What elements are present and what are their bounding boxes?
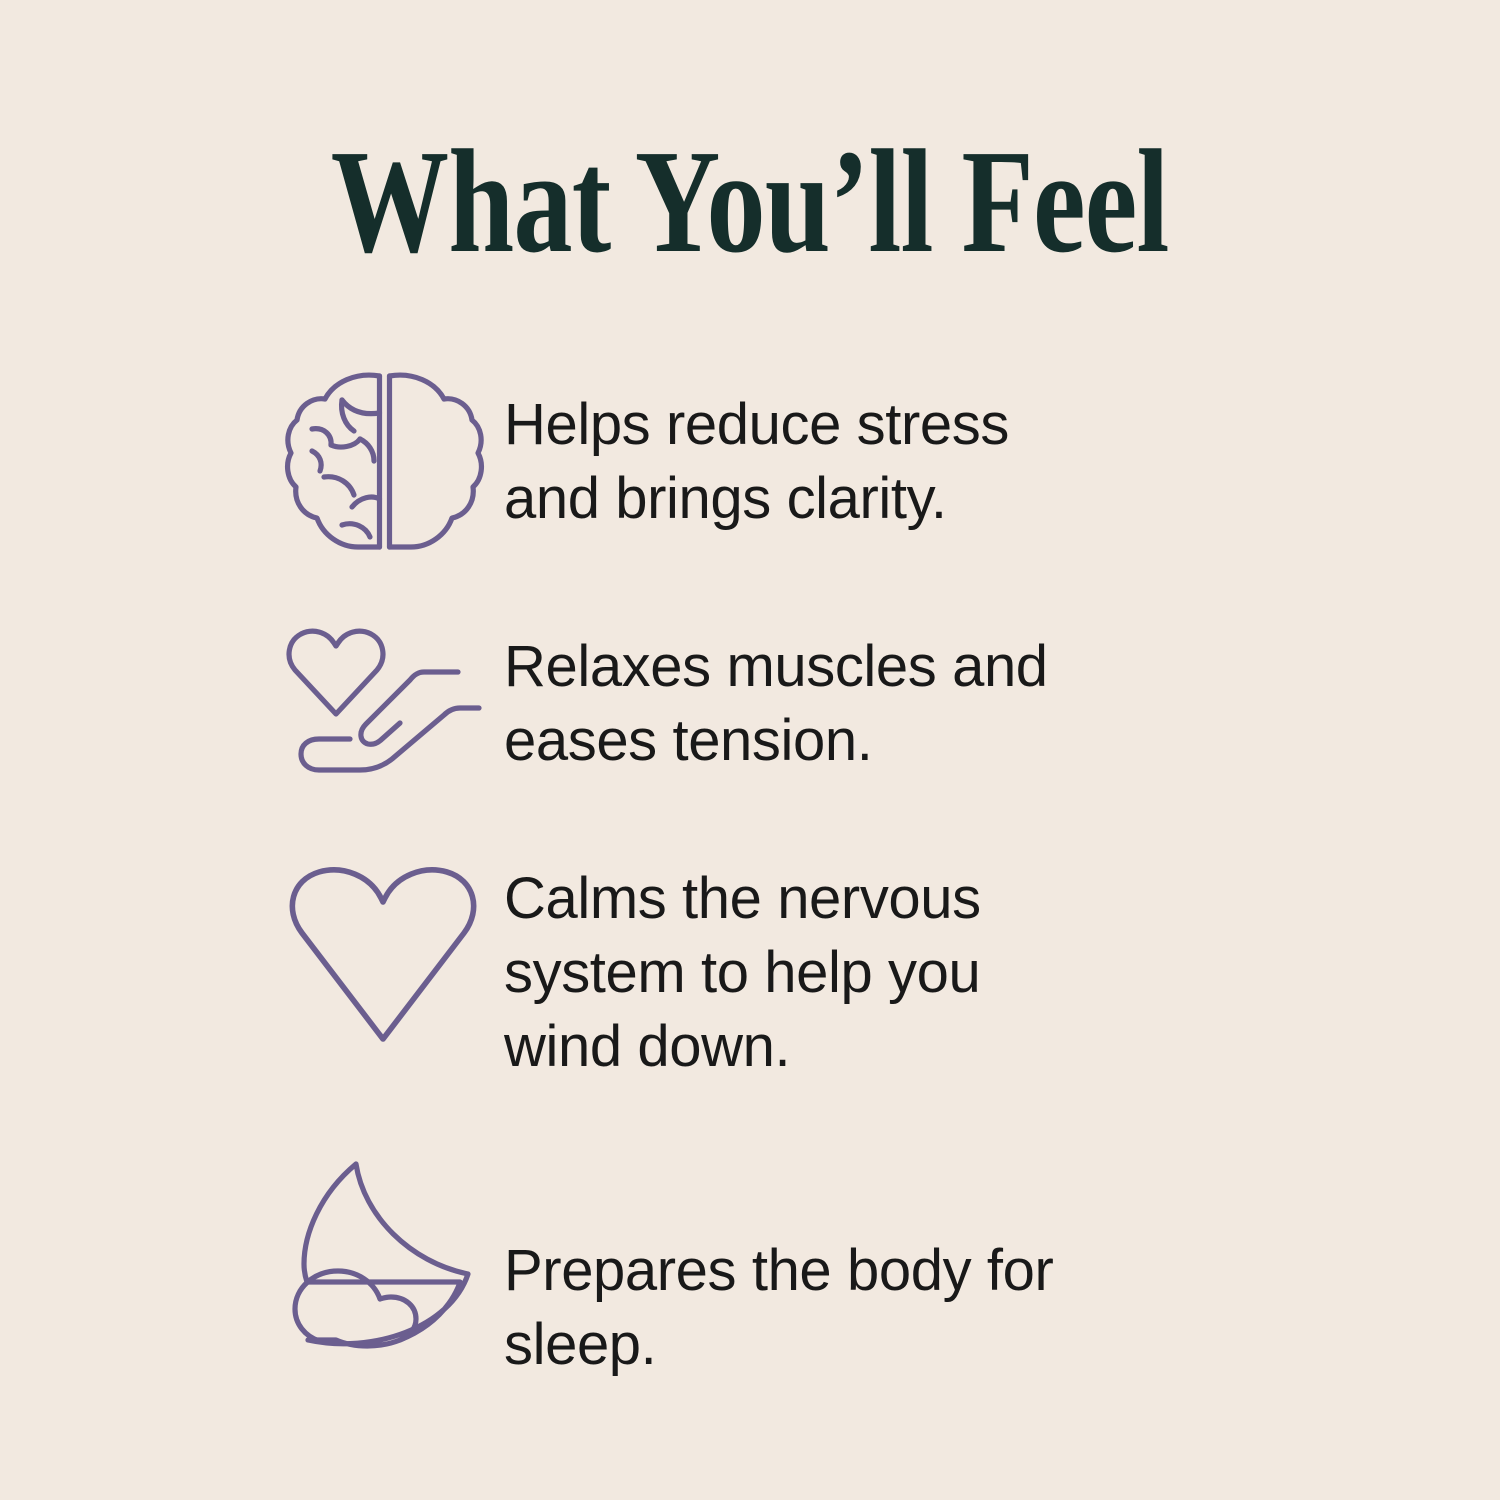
list-item: Calms the nervous system to help you win…: [282, 862, 1442, 1085]
page-title: What You’ll Feel: [331, 128, 1169, 276]
list-item-label: Prepares the body for sleep.: [504, 1152, 1442, 1382]
moon-cloud-icon: [282, 1152, 504, 1362]
what-you-will-feel-poster: What You’ll Feel: [0, 0, 1500, 1500]
list-item-label: Helps reduce stress and brings clarity.: [504, 362, 1442, 536]
list-item: Relaxes muscles and eases tension.: [282, 618, 1442, 788]
brain-icon: [282, 362, 504, 558]
list-item-label: Calms the nervous system to help you win…: [504, 862, 1442, 1085]
heart-icon: [282, 862, 504, 1048]
list-item-label: Relaxes muscles and eases tension.: [504, 618, 1442, 778]
page-title-container: What You’ll Feel: [0, 128, 1500, 276]
list-item: Helps reduce stress and brings clarity.: [282, 362, 1442, 558]
list-item: Prepares the body for sleep.: [282, 1152, 1442, 1382]
heart-in-hand-icon: [282, 618, 504, 788]
